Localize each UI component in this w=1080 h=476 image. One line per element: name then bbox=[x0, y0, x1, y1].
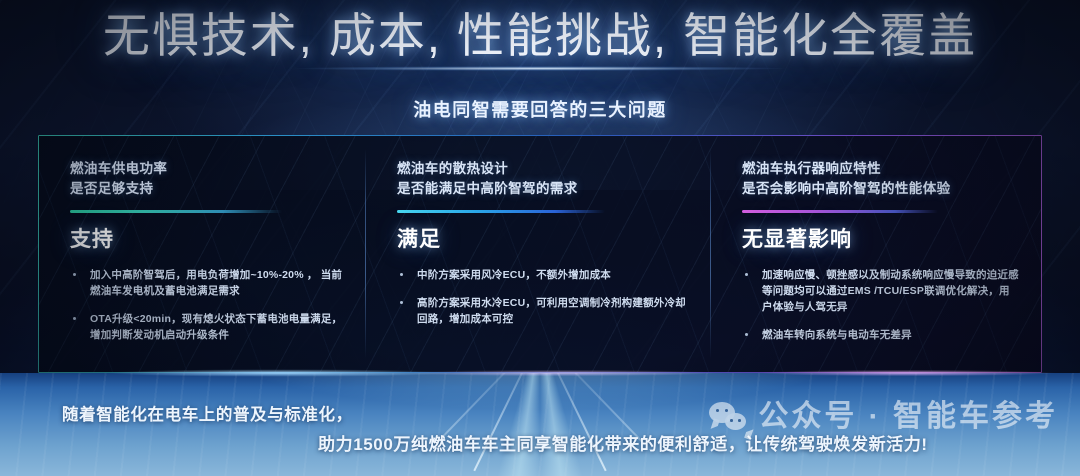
bullet-text: 高阶方案采用水冷ECU，可利用空调制冷剂构建额外冷却回路，增加成本可控 bbox=[417, 297, 686, 325]
bullet-dot-icon bbox=[73, 273, 76, 276]
bullet-text: 加速响应慢、顿挫感以及制动系统响应慢导致的迫近感等问题均可以通过EMS /TCU… bbox=[762, 269, 1019, 313]
bullet-text: 中阶方案采用风冷ECU，不额外增加成本 bbox=[417, 269, 611, 281]
page-subtitle: 油电同智需要回答的三大问题 bbox=[0, 97, 1080, 123]
bullet-list: 加速响应慢、顿挫感以及制动系统响应慢导致的迫近感等问题均可以通过EMS /TCU… bbox=[742, 267, 1020, 343]
list-item: 中阶方案采用风冷ECU，不额外增加成本 bbox=[397, 267, 688, 283]
list-item: 加入中高阶智驾后，用电负荷增加~10%-20% ， 当前燃油车发电机及蓄电池满足… bbox=[70, 267, 343, 299]
list-item: 燃油车转向系统与电动车无差异 bbox=[742, 327, 1020, 343]
question-line-2: 是否足够支持 bbox=[70, 179, 343, 199]
bullet-dot-icon bbox=[400, 273, 403, 276]
question-line-2: 是否会影响中高阶智驾的性能体验 bbox=[742, 179, 1020, 199]
answer-heading: 满足 bbox=[397, 227, 688, 253]
footer-line-1: 随着智能化在电车上的普及与标准化， bbox=[62, 404, 353, 426]
bullet-text: 燃油车转向系统与电动车无差异 bbox=[762, 329, 912, 341]
bullet-text: 加入中高阶智驾后，用电负荷增加~10%-20% ， 当前燃油车发电机及蓄电池满足… bbox=[90, 269, 342, 297]
bullet-list: 中阶方案采用风冷ECU，不额外增加成本 高阶方案采用水冷ECU，可利用空调制冷剂… bbox=[397, 267, 688, 327]
question-line-1: 燃油车执行器响应特性 bbox=[742, 159, 1020, 179]
question-line-1: 燃油车的散热设计 bbox=[397, 159, 688, 179]
slide-root: 无惧技术, 成本, 性能挑战, 智能化全覆盖 油电同智需要回答的三大问题 燃油车… bbox=[0, 0, 1080, 476]
accent-rule bbox=[742, 210, 938, 213]
list-item: OTA升级<20min，现有熄火状态下蓄电池电量满足，增加判断发动机启动升级条件 bbox=[70, 311, 343, 343]
accent-rule bbox=[70, 210, 282, 213]
question-line-2: 是否能满足中高阶智驾的需求 bbox=[397, 179, 688, 199]
bullet-list: 加入中高阶智驾后，用电负荷增加~10%-20% ， 当前燃油车发电机及蓄电池满足… bbox=[70, 267, 343, 343]
content-panel: 燃油车供电功率 是否足够支持 支持 加入中高阶智驾后，用电负荷增加~10%-20… bbox=[38, 135, 1042, 373]
title-underglow bbox=[230, 66, 850, 71]
bullet-dot-icon bbox=[73, 317, 76, 320]
bullet-text: OTA升级<20min，现有熄火状态下蓄电池电量满足，增加判断发动机启动升级条件 bbox=[90, 313, 342, 341]
column-actuator-response: 燃油车执行器响应特性 是否会影响中高阶智驾的性能体验 无显著影响 加速响应慢、顿… bbox=[710, 135, 1042, 373]
bullet-dot-icon bbox=[745, 333, 748, 336]
bullet-dot-icon bbox=[400, 301, 403, 304]
columns-container: 燃油车供电功率 是否足够支持 支持 加入中高阶智驾后，用电负荷增加~10%-20… bbox=[38, 135, 1042, 373]
accent-rule bbox=[397, 210, 605, 213]
list-item: 高阶方案采用水冷ECU，可利用空调制冷剂构建额外冷却回路，增加成本可控 bbox=[397, 295, 688, 327]
bullet-dot-icon bbox=[745, 273, 748, 276]
page-title: 无惧技术, 成本, 性能挑战, 智能化全覆盖 bbox=[0, 8, 1080, 64]
answer-heading: 支持 bbox=[70, 227, 343, 253]
column-power-supply: 燃油车供电功率 是否足够支持 支持 加入中高阶智驾后，用电负荷增加~10%-20… bbox=[38, 135, 365, 373]
footer-line-2: 助力1500万纯燃油车车主同享智能化带来的便利舒适，让传统驾驶焕发新活力! bbox=[318, 434, 928, 456]
list-item: 加速响应慢、顿挫感以及制动系统响应慢导致的迫近感等问题均可以通过EMS /TCU… bbox=[742, 267, 1020, 315]
column-thermal-design: 燃油车的散热设计 是否能满足中高阶智驾的需求 满足 中阶方案采用风冷ECU，不额… bbox=[365, 135, 710, 373]
answer-heading: 无显著影响 bbox=[742, 227, 1020, 253]
question-line-1: 燃油车供电功率 bbox=[70, 159, 343, 179]
